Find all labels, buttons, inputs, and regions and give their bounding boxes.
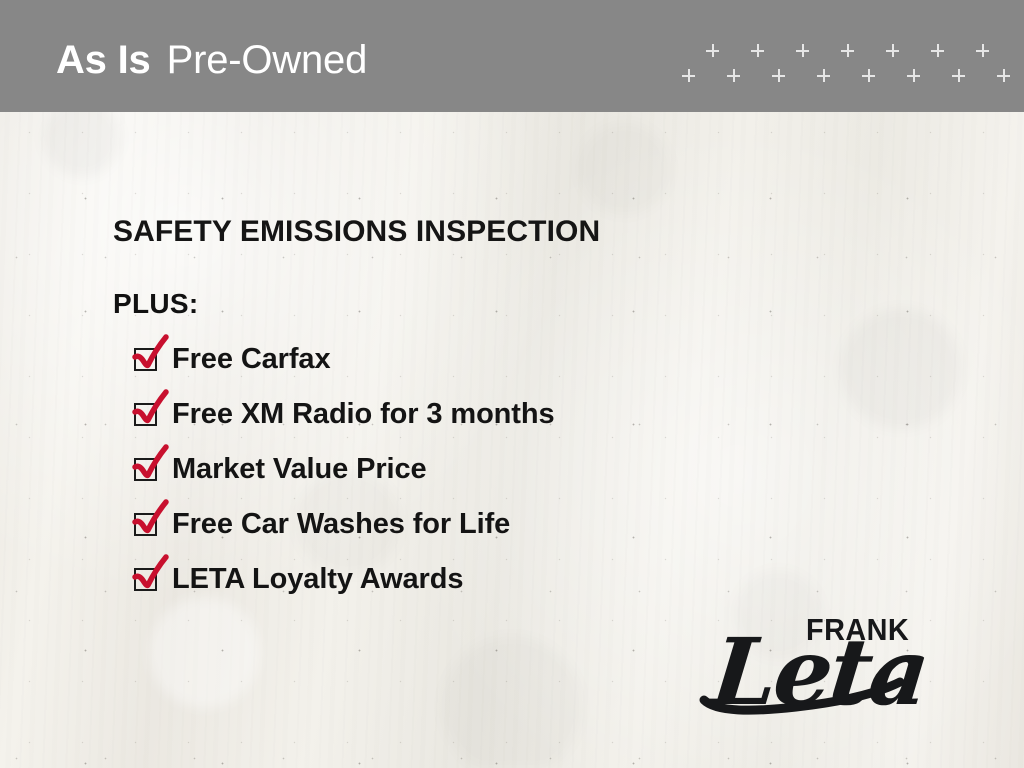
plus-icon: [682, 69, 695, 82]
plus-decoration-group: [676, 38, 1006, 94]
headline-text: SAFETY EMISSIONS INSPECTION: [113, 214, 600, 250]
plus-icon: [706, 44, 719, 57]
plus-icon: [976, 44, 989, 57]
page-title-light: Pre-Owned: [167, 38, 368, 82]
checklist-item-label: Free XM Radio for 3 months: [172, 397, 555, 431]
checkmark-icon: [133, 335, 169, 373]
page-title-bold: As Is: [56, 38, 151, 82]
plus-icon: [727, 69, 740, 82]
frank-leta-logo: FRANK Leta: [700, 600, 930, 730]
checkbox-checked-icon[interactable]: [134, 403, 157, 426]
checkmark-icon: [133, 500, 169, 538]
plus-icon: [931, 44, 944, 57]
plus-section-label: PLUS:: [113, 287, 199, 321]
plus-icon: [772, 69, 785, 82]
checklist-item[interactable]: Free Carfax: [134, 342, 754, 397]
checkmark-icon: [133, 555, 169, 593]
plus-icon: [841, 44, 854, 57]
checkbox-checked-icon[interactable]: [134, 348, 157, 371]
checkbox-checked-icon[interactable]: [134, 513, 157, 536]
header-band: As IsPre-Owned: [0, 0, 1024, 112]
checkmark-icon: [133, 445, 169, 483]
checklist-item-label: Market Value Price: [172, 452, 427, 486]
plus-icon: [907, 69, 920, 82]
benefits-checklist: Free CarfaxFree XM Radio for 3 monthsMar…: [134, 342, 754, 617]
checklist-item-label: Free Car Washes for Life: [172, 507, 510, 541]
checklist-item-label: LETA Loyalty Awards: [172, 562, 463, 596]
logo-leta-script: Leta: [708, 626, 931, 718]
checkbox-checked-icon[interactable]: [134, 568, 157, 591]
checklist-item[interactable]: Free XM Radio for 3 months: [134, 397, 754, 452]
checkmark-icon: [133, 390, 169, 428]
page-title: As IsPre-Owned: [56, 36, 367, 84]
plus-icon: [952, 69, 965, 82]
plus-icon: [886, 44, 899, 57]
plus-icon: [817, 69, 830, 82]
checklist-item[interactable]: Free Car Washes for Life: [134, 507, 754, 562]
plus-icon: [751, 44, 764, 57]
slide-canvas: As IsPre-Owned SAFETY EMISSIONS INSPECTI…: [0, 0, 1024, 768]
checklist-item-label: Free Carfax: [172, 342, 331, 376]
checkbox-checked-icon[interactable]: [134, 458, 157, 481]
plus-icon: [796, 44, 809, 57]
checklist-item[interactable]: LETA Loyalty Awards: [134, 562, 754, 617]
plus-icon: [862, 69, 875, 82]
checklist-item[interactable]: Market Value Price: [134, 452, 754, 507]
plus-icon: [997, 69, 1010, 82]
